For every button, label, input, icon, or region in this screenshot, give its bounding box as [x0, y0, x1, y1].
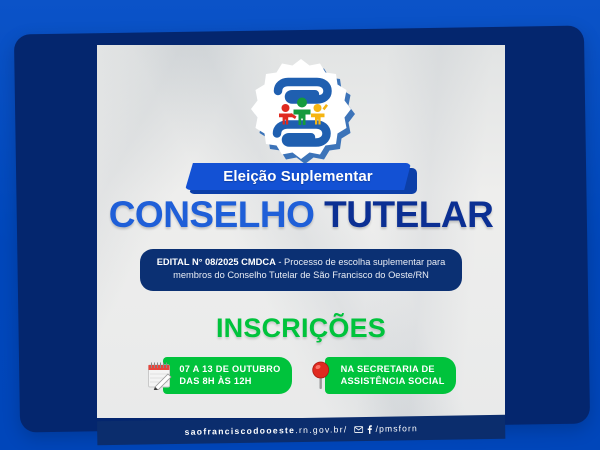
conselho-tutelar-emblem — [245, 55, 357, 167]
envelope-icon — [355, 426, 364, 433]
facebook-icon — [367, 424, 373, 433]
footer-bar: saofranciscodooeste.rn.gov.br/ /pmsforn — [97, 415, 505, 445]
badge-dates-line2: DAS 8H ÀS 12H — [179, 375, 280, 387]
badge-location: NA SECRETARIA DE ASSISTÊNCIA SOCIAL — [308, 357, 456, 394]
footer-social-handle: /pmsforn — [376, 424, 418, 433]
badge-dates-line1: 07 A 13 DE OUTUBRO — [179, 363, 280, 375]
edital-notice: EDITAL N° 08/2025 CMDCA - Processo de es… — [140, 249, 462, 291]
badge-dates-text: 07 A 13 DE OUTUBRO DAS 8H ÀS 12H — [163, 357, 291, 394]
calendar-icon — [146, 360, 172, 390]
eleicao-suplementar-banner: Eleição Suplementar — [185, 163, 417, 194]
badge-location-line2: ASSISTÊNCIA SOCIAL — [341, 375, 445, 387]
content-card: Eleição Suplementar CONSELHO TUTELAR EDI… — [97, 45, 505, 418]
footer-social[interactable]: /pmsforn — [355, 424, 418, 434]
page-title: CONSELHO TUTELAR — [97, 196, 505, 233]
badge-dates: 07 A 13 DE OUTUBRO DAS 8H ÀS 12H — [146, 357, 291, 394]
footer-website[interactable]: saofranciscodooeste.rn.gov.br/ — [184, 425, 347, 436]
footer-website-domain: saofranciscodooeste — [184, 425, 295, 437]
info-badges-row: 07 A 13 DE OUTUBRO DAS 8H ÀS 12H — [97, 357, 505, 394]
badge-location-text: NA SECRETARIA DE ASSISTÊNCIA SOCIAL — [325, 357, 456, 394]
poster-root: Eleição Suplementar CONSELHO TUTELAR EDI… — [0, 0, 600, 450]
map-pin-icon — [308, 360, 334, 390]
badge-location-line1: NA SECRETARIA DE — [341, 363, 445, 375]
title-word-conselho: CONSELHO — [109, 194, 315, 235]
title-word-tutelar: TUTELAR — [324, 194, 493, 235]
banner-body: Eleição Suplementar — [185, 163, 411, 190]
edital-number: EDITAL N° 08/2025 CMDCA — [157, 257, 276, 267]
banner-label: Eleição Suplementar — [223, 169, 372, 184]
section-heading-inscricoes: INSCRIÇÕES — [97, 315, 505, 342]
footer-website-suffix: .rn.gov.br/ — [295, 424, 348, 435]
